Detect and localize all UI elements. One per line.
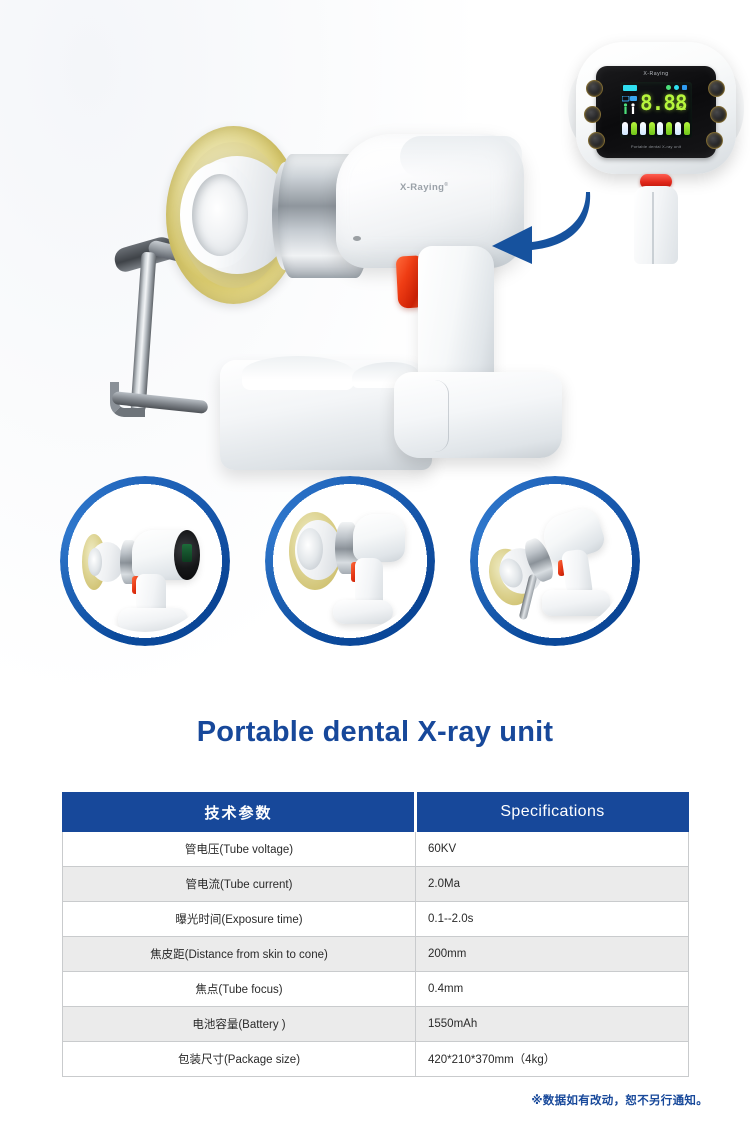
spec-value: 0.1--2.0s — [416, 902, 689, 937]
table-row: 焦点(Tube focus) 0.4mm — [63, 972, 689, 1007]
registered-mark: ® — [444, 182, 448, 188]
brand-logo-text: X-Raying — [400, 182, 444, 193]
panel-button-down — [710, 106, 727, 123]
tooth-icon — [675, 122, 681, 135]
tooth-icon — [640, 122, 646, 135]
spec-param: 焦点(Tube focus) — [63, 972, 416, 1007]
thumbnail-rear-view[interactable] — [60, 476, 230, 646]
control-panel-closeup: X-Raying — [560, 34, 750, 264]
lcd-unit-label: SEC — [676, 106, 686, 112]
lcd-display: 8.88 SEC — [620, 82, 692, 138]
tooth-icon — [684, 122, 690, 135]
panel-button-settings — [706, 132, 723, 149]
spec-table-body: 管电压(Tube voltage) 60KV 管电流(Tube current)… — [63, 832, 689, 1077]
disclaimer-note: ※数据如有改动，恕不另行通知。 — [531, 1092, 708, 1108]
inset-handle-seam — [652, 192, 654, 264]
thumbnail-image — [74, 490, 216, 632]
spec-table: 技术参数 Specifications 管电压(Tube voltage) 60… — [62, 792, 689, 1077]
control-panel: X-Raying — [596, 66, 716, 158]
page-title: Portable dental X-ray unit — [0, 716, 750, 749]
table-header-row: 技术参数 Specifications — [63, 793, 689, 832]
spec-param: 电池容量(Battery ) — [63, 1007, 416, 1042]
tooth-icon — [631, 122, 637, 135]
column-header-specifications: Specifications — [416, 793, 689, 832]
main-product-image: X-Raying® — [100, 118, 520, 458]
wireless-icon — [674, 85, 679, 90]
panel-button-tooth-select — [584, 106, 601, 123]
inset-handle — [634, 186, 678, 264]
panel-subtitle: Portable dental X-ray unit — [596, 144, 716, 149]
thumbnail-image — [279, 490, 421, 632]
thumbnail-image — [484, 490, 626, 632]
panel-button-up — [708, 80, 725, 97]
tooth-icon — [649, 122, 655, 135]
spec-table-head: 技术参数 Specifications — [63, 793, 689, 832]
spec-table-wrapper: 技术参数 Specifications 管电压(Tube voltage) 60… — [62, 792, 688, 1077]
spec-param: 管电流(Tube current) — [63, 867, 416, 902]
column-header-parameter: 技术参数 — [63, 793, 416, 832]
spec-value: 420*210*370mm（4kg） — [416, 1042, 689, 1077]
tooth-icon — [666, 122, 672, 135]
spec-value: 0.4mm — [416, 972, 689, 1007]
lcd-tooth-selector — [622, 118, 690, 135]
panel-button-mode — [588, 132, 605, 149]
table-row: 曝光时间(Exposure time) 0.1--2.0s — [63, 902, 689, 937]
vent-hole — [353, 236, 361, 241]
hero-section: X-Raying® X-Raying — [0, 0, 750, 470]
spec-value: 60KV — [416, 832, 689, 867]
panel-button-patient-type — [586, 80, 603, 97]
mode-icon — [682, 85, 687, 90]
thumbnail-gallery — [0, 470, 750, 655]
thumbnail-angled-view[interactable] — [470, 476, 640, 646]
table-row: 管电压(Tube voltage) 60KV — [63, 832, 689, 867]
thumbnail-front-view[interactable] — [265, 476, 435, 646]
spec-param: 曝光时间(Exposure time) — [63, 902, 416, 937]
spec-value: 1550mAh — [416, 1007, 689, 1042]
battery-icon — [623, 85, 637, 91]
spec-param: 包装尺寸(Package size) — [63, 1042, 416, 1077]
spec-value: 200mm — [416, 937, 689, 972]
spec-param: 管电压(Tube voltage) — [63, 832, 416, 867]
table-row: 包装尺寸(Package size) 420*210*370mm（4kg） — [63, 1042, 689, 1077]
product-page: X-Raying® X-Raying — [0, 0, 750, 1132]
dock-cradle-notch — [242, 356, 354, 390]
spec-param: 焦皮距(Distance from skin to cone) — [63, 937, 416, 972]
battery-seam — [400, 380, 449, 452]
spec-value: 2.0Ma — [416, 867, 689, 902]
tooth-icon — [657, 122, 663, 135]
cone-bore — [192, 174, 248, 256]
lcd-patient-icons — [622, 96, 638, 116]
table-row: 管电流(Tube current) 2.0Ma — [63, 867, 689, 902]
brand-logo-main: X-Raying® — [400, 182, 448, 193]
tooth-icon — [622, 122, 628, 135]
table-row: 焦皮距(Distance from skin to cone) 200mm — [63, 937, 689, 972]
table-row: 电池容量(Battery ) 1550mAh — [63, 1007, 689, 1042]
settings-icon — [666, 85, 671, 90]
panel-brand-label: X-Raying — [596, 71, 716, 77]
body-highlight — [400, 136, 522, 178]
